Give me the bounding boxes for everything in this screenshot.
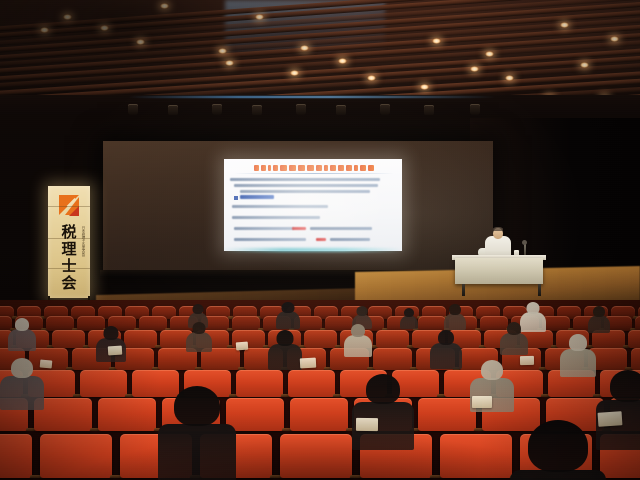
audience-member-head bbox=[193, 304, 204, 314]
audience-member-head bbox=[366, 374, 400, 404]
slide-highlight-text bbox=[292, 227, 306, 230]
auditorium-seat bbox=[77, 316, 105, 331]
audience-member-head bbox=[404, 308, 414, 317]
audience-member bbox=[8, 318, 36, 353]
slide-title-glyph bbox=[330, 165, 336, 171]
auditorium-seat bbox=[46, 316, 74, 331]
audience-member-head bbox=[351, 324, 365, 337]
association-banner: 税理士会 日本税理士会連合会 bbox=[48, 186, 90, 298]
slide-bottom-glow bbox=[222, 248, 404, 252]
audience-member-head bbox=[357, 306, 368, 316]
slide-title-glyph bbox=[316, 165, 322, 171]
audience-member bbox=[0, 358, 44, 412]
audience-member-torso bbox=[430, 343, 462, 369]
audience-member-head bbox=[527, 302, 540, 314]
auditorium-seat bbox=[124, 330, 157, 348]
audience-member-head bbox=[449, 304, 461, 315]
auditorium-seat bbox=[631, 348, 640, 370]
auditorium-seat bbox=[98, 398, 156, 431]
audience-member-torso bbox=[276, 311, 300, 329]
audience-member-head bbox=[438, 330, 454, 345]
stage-light-fixture-icon bbox=[128, 104, 138, 115]
presenter-table bbox=[455, 258, 543, 284]
auditorium-seat bbox=[373, 348, 412, 370]
handout-paper bbox=[356, 418, 378, 431]
table-leg bbox=[462, 284, 465, 296]
audience-member-head bbox=[11, 358, 33, 378]
slide-body-line bbox=[230, 178, 380, 181]
handout-paper bbox=[472, 396, 492, 408]
slide-lower-line bbox=[234, 227, 294, 230]
audience-member bbox=[500, 322, 528, 357]
audience-member-torso bbox=[186, 332, 212, 352]
auditorium-seat bbox=[80, 370, 127, 397]
stage-light-fixture-icon bbox=[470, 104, 480, 115]
stage-light-fixture-icon bbox=[380, 104, 390, 115]
auditorium-seat bbox=[132, 370, 179, 397]
audience-member-torso bbox=[0, 376, 44, 410]
audience-member-head bbox=[528, 420, 588, 472]
auditorium-seat bbox=[376, 330, 409, 348]
handout-paper bbox=[520, 356, 534, 365]
banner-tie bbox=[48, 238, 90, 239]
audience-member bbox=[186, 322, 212, 354]
audience-member bbox=[430, 330, 462, 371]
handout-paper bbox=[40, 359, 53, 368]
audience-member-head bbox=[193, 322, 206, 334]
audience-member bbox=[276, 302, 300, 331]
audience-member-head bbox=[593, 306, 605, 317]
slide-lower-line bbox=[232, 216, 320, 219]
slide-heading bbox=[240, 195, 274, 199]
audience-member-head bbox=[610, 370, 640, 402]
slide-body-line bbox=[234, 184, 378, 187]
audience-member bbox=[400, 308, 418, 331]
slide-title-glyph bbox=[298, 165, 305, 171]
handout-paper bbox=[300, 358, 316, 369]
table-leg bbox=[538, 284, 541, 296]
audience-seating bbox=[0, 300, 640, 480]
auditorium-seat bbox=[635, 316, 640, 331]
slide-title-glyph bbox=[346, 165, 352, 171]
audience-member-head bbox=[174, 386, 220, 426]
audience-member-torso bbox=[268, 344, 302, 370]
slide-title-glyph bbox=[273, 165, 278, 171]
audience-member-torso bbox=[400, 315, 418, 329]
banner-subtitle: 日本税理士会連合会 bbox=[79, 226, 85, 284]
banner-kanji-char: 理 bbox=[61, 241, 76, 257]
audience-member-torso bbox=[158, 424, 236, 480]
auditorium-seat bbox=[440, 434, 512, 478]
auditorium-photo: 税理士会 日本税理士会連合会 bbox=[0, 0, 640, 480]
auditorium-seat bbox=[0, 434, 32, 478]
audience-member bbox=[352, 374, 414, 452]
audience-member bbox=[560, 334, 596, 379]
audience-member-head bbox=[481, 360, 503, 380]
auditorium-seat bbox=[232, 316, 260, 331]
slide-title-glyph bbox=[254, 165, 259, 171]
slide-title-glyph bbox=[261, 165, 266, 171]
slide-lower-line bbox=[330, 238, 370, 241]
audience-member-torso bbox=[8, 329, 36, 351]
auditorium-seat bbox=[52, 330, 85, 348]
slide-title-glyph bbox=[280, 165, 287, 171]
stage-light-fixture-icon bbox=[296, 104, 306, 115]
banner-tie bbox=[48, 206, 90, 207]
slide-heading-bullet bbox=[234, 196, 238, 200]
slide-title-glyph bbox=[307, 165, 314, 171]
auditorium-seat bbox=[40, 434, 112, 478]
audience-member bbox=[158, 386, 236, 480]
slide-body-line bbox=[240, 190, 370, 193]
auditorium-seat bbox=[280, 434, 352, 478]
slide-title-glyph bbox=[368, 165, 374, 171]
audience-member bbox=[268, 330, 302, 372]
audience-member-head bbox=[15, 318, 29, 331]
slide-title bbox=[236, 163, 392, 172]
audience-member bbox=[444, 304, 466, 332]
auditorium-seat bbox=[290, 398, 348, 431]
auditorium-seat bbox=[542, 316, 570, 331]
audience-member-torso bbox=[588, 315, 610, 333]
handout-paper bbox=[236, 342, 249, 351]
audience-member bbox=[588, 306, 610, 335]
speaker-hair bbox=[493, 227, 503, 231]
handout-paper bbox=[598, 411, 623, 427]
auditorium-seat bbox=[304, 330, 337, 348]
slide-title-glyph bbox=[338, 165, 344, 171]
slide-title-rule bbox=[234, 173, 394, 174]
slide-lower-line bbox=[310, 227, 372, 230]
auditorium-seat bbox=[418, 316, 446, 331]
auditorium-seat bbox=[288, 370, 335, 397]
slide-title-glyph bbox=[354, 165, 358, 171]
audience-member-torso bbox=[444, 313, 466, 330]
audience-member-torso bbox=[560, 349, 596, 377]
audience-member-torso bbox=[500, 333, 528, 355]
auditorium-seat bbox=[236, 370, 283, 397]
banner-tie bbox=[48, 268, 90, 269]
slide-title-glyph bbox=[268, 165, 271, 171]
audience-member bbox=[344, 324, 372, 359]
auditorium-seat bbox=[418, 398, 476, 431]
audience-member-head bbox=[569, 334, 587, 351]
audience-member-head bbox=[104, 326, 119, 340]
truss-blue-accent-light bbox=[128, 96, 496, 98]
audience-member-head bbox=[277, 330, 294, 346]
slide-title-glyph bbox=[324, 165, 328, 171]
slide-title-glyph bbox=[289, 165, 296, 171]
auditorium-seat bbox=[628, 330, 640, 348]
projected-slide bbox=[224, 159, 402, 251]
handout-paper bbox=[108, 346, 122, 356]
audience-member-head bbox=[282, 302, 295, 313]
slide-lower-line bbox=[232, 205, 328, 208]
microphone-icon bbox=[522, 240, 527, 245]
auditorium-seat bbox=[139, 316, 167, 331]
audience-member-head bbox=[507, 322, 521, 335]
banner-kanji-char: 会 bbox=[61, 275, 76, 291]
slide-lower-line bbox=[234, 238, 306, 241]
banner-kanji-char: 士 bbox=[61, 258, 76, 274]
slide-highlight-text bbox=[316, 238, 326, 241]
slide-title-glyph bbox=[360, 165, 366, 171]
stage-light-fixture-icon bbox=[212, 104, 222, 115]
audience-member-torso bbox=[344, 335, 372, 357]
